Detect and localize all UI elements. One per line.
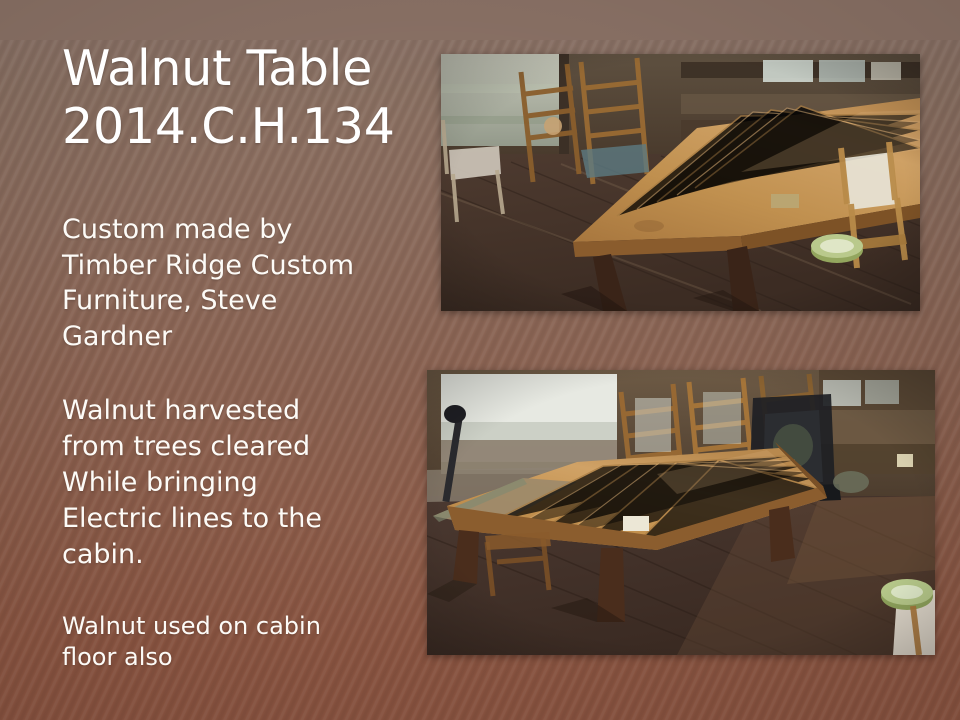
body-paragraph-provenance: Walnut harvested from trees cleared Whil… [62,393,424,573]
page-title: Walnut Table 2014.C.H.134 [62,40,424,156]
body-paragraph-maker: Custom made by Timber Ridge Custom Furni… [62,212,424,356]
walnut-table-photo-bottom [427,370,935,655]
photo-top-artwork [441,54,920,311]
body-paragraph-floor: Walnut used on cabin floor also [62,611,424,674]
text-column: Walnut Table 2014.C.H.134 Custom made by… [62,40,424,674]
walnut-table-photo-top [441,54,920,311]
slide-canvas: Walnut Table 2014.C.H.134 Custom made by… [0,0,960,720]
photo-bottom-artwork [427,370,935,655]
